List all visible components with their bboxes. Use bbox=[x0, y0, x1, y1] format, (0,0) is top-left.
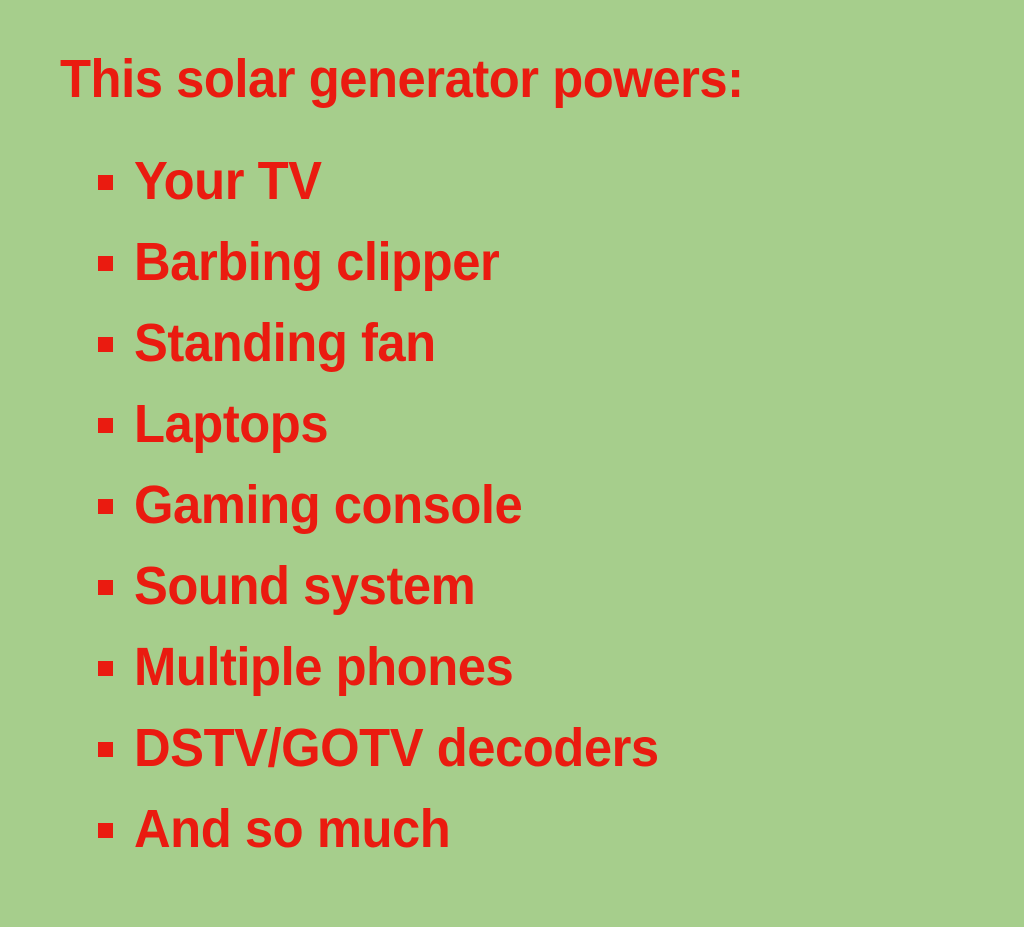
list-item-label: DSTV/GOTV decoders bbox=[134, 719, 659, 777]
list-item: Multiple phones bbox=[98, 626, 692, 707]
list-item-label: Standing fan bbox=[134, 314, 436, 372]
solar-generator-slide: This solar generator powers: Your TV Bar… bbox=[0, 0, 1024, 927]
list-item: DSTV/GOTV decoders bbox=[98, 707, 692, 788]
list-item-label: Your TV bbox=[134, 152, 322, 210]
list-item-label: And so much bbox=[134, 800, 450, 858]
list-item: Standing fan bbox=[98, 302, 692, 383]
square-bullet-icon bbox=[98, 742, 113, 757]
square-bullet-icon bbox=[98, 337, 113, 352]
square-bullet-icon bbox=[98, 499, 113, 514]
square-bullet-icon bbox=[98, 418, 113, 433]
list-item-label: Barbing clipper bbox=[134, 233, 499, 291]
list-item-label: Laptops bbox=[134, 395, 328, 453]
square-bullet-icon bbox=[98, 256, 113, 271]
list-item: Barbing clipper bbox=[98, 221, 692, 302]
list-item: Laptops bbox=[98, 383, 692, 464]
list-item-label: Multiple phones bbox=[134, 638, 513, 696]
list-item-label: Gaming console bbox=[134, 476, 522, 534]
list-item: Sound system bbox=[98, 545, 692, 626]
square-bullet-icon bbox=[98, 580, 113, 595]
page-title: This solar generator powers: bbox=[60, 50, 744, 108]
list-item: Gaming console bbox=[98, 464, 692, 545]
powers-list: Your TV Barbing clipper Standing fan Lap… bbox=[98, 140, 692, 869]
square-bullet-icon bbox=[98, 823, 113, 838]
list-item-label: Sound system bbox=[134, 557, 475, 615]
square-bullet-icon bbox=[98, 661, 113, 676]
list-item: And so much bbox=[98, 788, 692, 869]
list-item: Your TV bbox=[98, 140, 692, 221]
square-bullet-icon bbox=[98, 175, 113, 190]
